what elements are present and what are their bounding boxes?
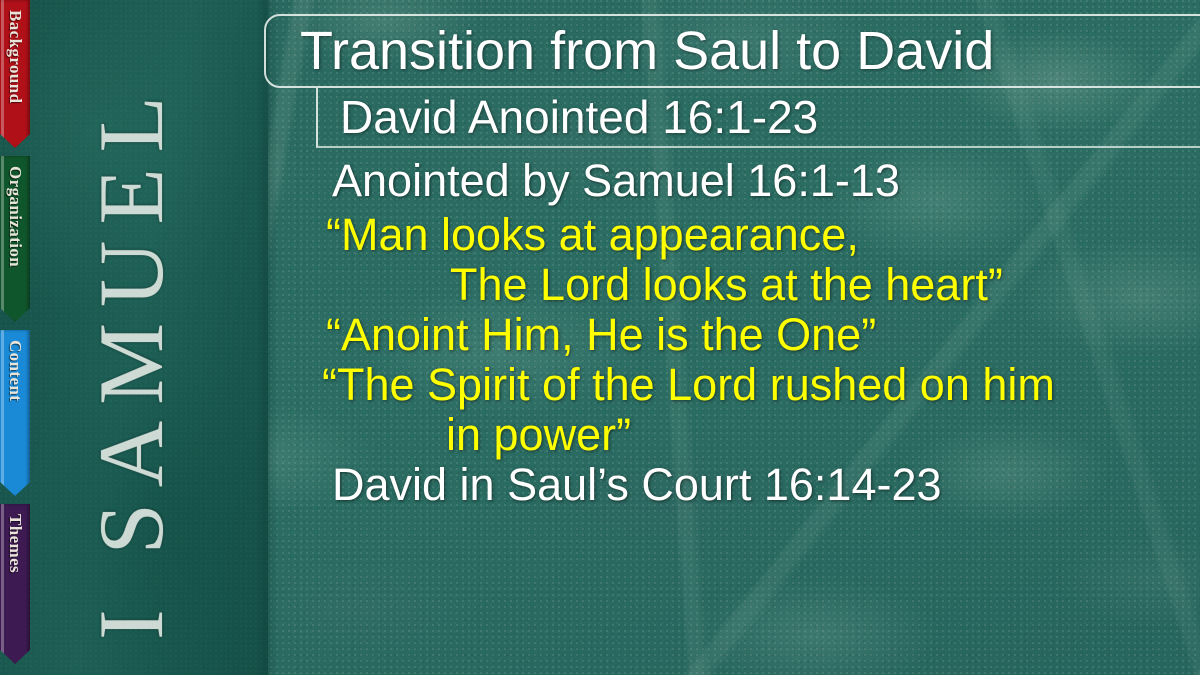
sidebar-tab-label: Themes	[5, 514, 25, 573]
sidebar-tab-highlight-stripe	[1, 330, 4, 496]
body-line: “Man looks at appearance,	[326, 210, 859, 260]
body-line: Anointed by Samuel 16:1-13	[332, 156, 900, 206]
body-line: “Anoint Him, He is the One”	[326, 310, 876, 360]
sidebar-tab-background[interactable]: Background	[0, 0, 30, 148]
sidebar-tab-highlight-stripe	[1, 0, 4, 148]
sidebar-tab-themes[interactable]: Themes	[0, 504, 30, 664]
sidebar-tab-label: Content	[5, 340, 25, 401]
presentation-slide: I SAMUEL BackgroundOrganizationContentTh…	[0, 0, 1200, 675]
book-cover-title: I SAMUEL	[78, 80, 184, 640]
body-line: “The Spirit of the Lord rushed on him	[322, 360, 1055, 410]
sidebar-tab-highlight-stripe	[1, 504, 4, 664]
sidebar-tab-content[interactable]: Content	[0, 330, 30, 496]
slide-body: Anointed by Samuel 16:1-13“Man looks at …	[318, 156, 1200, 556]
section-tab-rail[interactable]: BackgroundOrganizationContentThemes	[0, 0, 30, 675]
sidebar-tab-label: Background	[5, 10, 25, 103]
sidebar-tab-label: Organization	[5, 166, 25, 267]
sidebar-tab-highlight-stripe	[1, 156, 4, 322]
book-cover-seam	[256, 0, 278, 675]
sidebar-tab-organization[interactable]: Organization	[0, 156, 30, 322]
slide-subtitle: David Anointed 16:1-23	[340, 88, 1200, 146]
body-line: in power”	[446, 410, 631, 460]
body-line: David in Saul’s Court 16:14-23	[332, 460, 942, 510]
slide-title: Transition from Saul to David	[300, 14, 1200, 88]
body-line: The Lord looks at the heart”	[450, 260, 1003, 310]
